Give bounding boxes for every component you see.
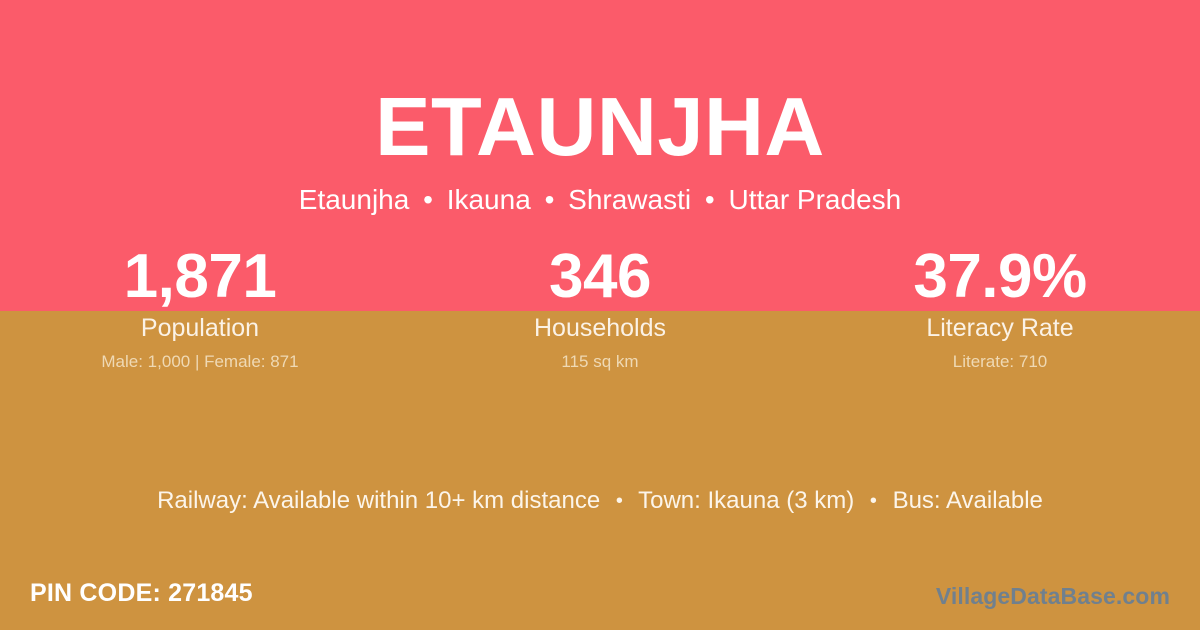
amenities-line: Railway: Available within 10+ km distanc…: [0, 486, 1200, 516]
brand-watermark: VillageDataBase.com: [936, 582, 1170, 610]
stat-label-literacy-rate: Literacy Rate: [800, 313, 1200, 343]
pin-code: PIN CODE: 271845: [30, 578, 253, 608]
breadcrumb: Etaunjha • Ikauna • Shrawasti • Uttar Pr…: [0, 183, 1200, 217]
stat-literacy-rate: 37.9% Literacy Rate Literate: 710: [800, 243, 1200, 372]
breadcrumb-item-district: Shrawasti: [568, 184, 691, 215]
stat-label-population: Population: [0, 313, 400, 343]
breadcrumb-separator: •: [417, 184, 439, 215]
stat-sub-households: 115 sq km: [400, 352, 800, 372]
amenity-railway: Railway: Available within 10+ km distanc…: [157, 487, 600, 514]
breadcrumb-item-block: Ikauna: [447, 184, 531, 215]
breadcrumb-item-village: Etaunjha: [299, 184, 410, 215]
page-title: ETAUNJHA: [0, 85, 1200, 168]
stat-value-households: 346: [400, 243, 800, 311]
card-footer: PIN CODE: 271845 VillageDataBase.com: [0, 575, 1200, 630]
village-info-card: ETAUNJHA Etaunjha • Ikauna • Shrawasti •…: [0, 0, 1200, 630]
stat-sub-literacy-rate: Literate: 710: [800, 352, 1200, 372]
amenity-separator: •: [861, 490, 886, 512]
stat-value-literacy-rate: 37.9%: [800, 243, 1200, 311]
stat-households: 346 Households 115 sq km: [400, 243, 800, 372]
breadcrumb-item-state: Uttar Pradesh: [728, 184, 901, 215]
stat-sub-population: Male: 1,000 | Female: 871: [0, 352, 400, 372]
stat-population: 1,871 Population Male: 1,000 | Female: 8…: [0, 243, 400, 372]
amenity-bus: Bus: Available: [893, 487, 1043, 514]
amenity-town: Town: Ikauna (3 km): [638, 487, 854, 514]
breadcrumb-separator: •: [699, 184, 721, 215]
stats-row: 1,871 Population Male: 1,000 | Female: 8…: [0, 243, 1200, 372]
stat-label-households: Households: [400, 313, 800, 343]
amenity-separator: •: [607, 490, 632, 512]
stat-value-population: 1,871: [0, 243, 400, 311]
breadcrumb-separator: •: [539, 184, 561, 215]
